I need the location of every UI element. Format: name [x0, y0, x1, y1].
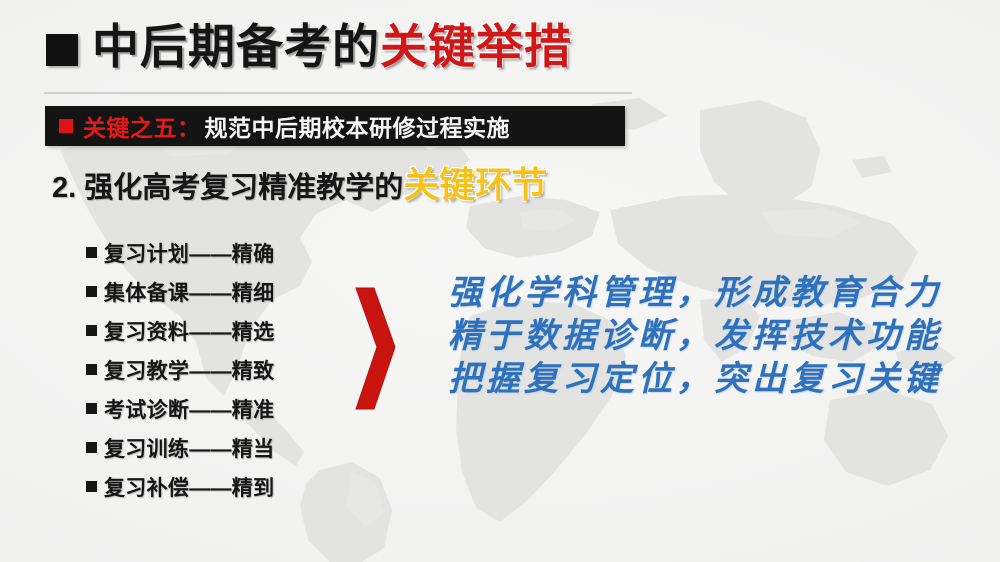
list-bullet-square-icon [86, 325, 97, 336]
section-heading-gold-text: 关键环节 [403, 164, 547, 205]
callout-line: 把握复习定位，突出复习关键 [448, 358, 968, 401]
list-bullet-square-icon [86, 247, 97, 258]
list-item-label: 集体备课——精细 [104, 277, 274, 307]
key-point-bar: 关键之五： 规范中后期校本研修过程实施 [45, 106, 625, 146]
key-bar-red-label: 关键之五： [83, 109, 201, 143]
key-link-list: 复习计划——精确 集体备课——精细 复习资料——精选 复习教学——精致 考试诊断… [86, 233, 356, 506]
list-bullet-square-icon [86, 403, 97, 414]
section-heading-black-text: 2. 强化高考复习精准教学的 [52, 172, 403, 204]
right-chevron-icon [352, 286, 398, 411]
list-item: 集体备课——精细 [86, 272, 356, 311]
list-item: 复习教学——精致 [86, 350, 356, 389]
callout-text-block: 强化学科管理，形成教育合力 精于数据诊断，发挥技术功能 把握复习定位，突出复习关… [448, 272, 968, 401]
list-item-label: 复习资料——精选 [104, 316, 274, 346]
title-red-text: 关键举措 [380, 20, 572, 73]
callout-line: 强化学科管理，形成教育合力 [448, 272, 968, 315]
list-item-label: 复习训练——精当 [104, 433, 274, 463]
list-item: 复习资料——精选 [86, 311, 356, 350]
callout-line: 精于数据诊断，发挥技术功能 [448, 315, 968, 358]
list-bullet-square-icon [86, 364, 97, 375]
title-square-bullet-icon [46, 34, 78, 66]
section-heading: 2. 强化高考复习精准教学的关键环节 [52, 163, 547, 206]
list-bullet-square-icon [86, 481, 97, 492]
key-bar-square-bullet-icon [59, 119, 73, 133]
list-item: 复习训练——精当 [86, 428, 356, 467]
list-bullet-square-icon [86, 286, 97, 297]
slide-title: 中后期备考的关键举措 [46, 22, 572, 71]
list-item-label: 复习补偿——精到 [104, 472, 274, 502]
list-bullet-square-icon [86, 442, 97, 453]
list-item: 考试诊断——精准 [86, 389, 356, 428]
key-bar-white-label: 规范中后期校本研修过程实施 [205, 109, 511, 143]
list-item: 复习补偿——精到 [86, 467, 356, 506]
list-item: 复习计划——精确 [86, 233, 356, 272]
title-divider [44, 92, 632, 94]
list-item-label: 考试诊断——精准 [104, 394, 274, 424]
list-item-label: 复习教学——精致 [104, 355, 274, 385]
title-black-text: 中后期备考的 [92, 20, 380, 73]
list-item-label: 复习计划——精确 [104, 238, 274, 268]
slide-canvas: 中后期备考的关键举措 关键之五： 规范中后期校本研修过程实施 2. 强化高考复习… [0, 0, 1000, 562]
